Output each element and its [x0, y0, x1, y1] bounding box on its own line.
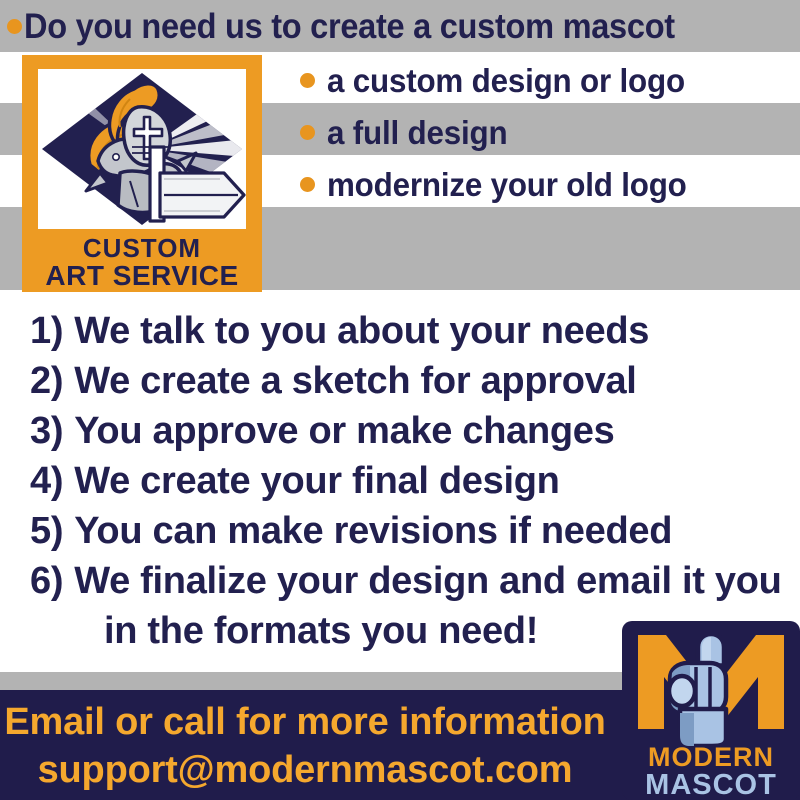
modern-mascot-logo: MODERN MASCOT [622, 621, 800, 800]
bullet-dot-icon [300, 73, 315, 88]
m-monogram-pointing-hand-icon [622, 621, 800, 746]
art-caption-line-1: CUSTOM [22, 235, 262, 262]
step-number: 4) [30, 462, 63, 500]
knight-mascot-icon [38, 69, 246, 229]
step-label: in the formats you need! [104, 612, 538, 650]
footer-line-1: Email or call for more information [0, 698, 610, 746]
step-item: 5) You can make revisions if needed [30, 506, 790, 556]
list-item-label: a full design [327, 116, 507, 149]
bullet-dot-icon [7, 19, 22, 34]
step-label: We finalize your design and email it you [74, 562, 781, 600]
step-label: You approve or make changes [74, 412, 614, 450]
process-steps-list: 1) We talk to you about your needs 2) We… [30, 306, 790, 656]
bullet-dot-icon [300, 125, 315, 140]
step-label: We create your final design [74, 462, 559, 500]
bullet-dot-icon [300, 177, 315, 192]
step-number: 1) [30, 312, 63, 350]
headline-text: Do you need us to create a custom mascot [24, 9, 675, 44]
step-item: 4) We create your final design [30, 456, 790, 506]
step-label: We talk to you about your needs [74, 312, 649, 350]
list-item: a custom design or logo [300, 54, 800, 106]
brand-wordmark: MODERN MASCOT [622, 743, 800, 799]
footer-line-2[interactable]: support@modernmascot.com [0, 746, 610, 794]
brand-word-mascot: MASCOT [622, 771, 800, 799]
art-caption-line-2: ART SERVICE [22, 262, 262, 289]
step-label: We create a sketch for approval [74, 362, 636, 400]
step-number: 5) [30, 512, 63, 550]
brand-word-modern: MODERN [622, 743, 800, 771]
step-label: You can make revisions if needed [74, 512, 672, 550]
promotional-poster: Do you need us to create a custom mascot… [0, 0, 800, 800]
list-item: a full design [300, 106, 800, 158]
service-bullet-list: a custom design or logo a full design mo… [300, 54, 800, 210]
headline: Do you need us to create a custom mascot [0, 1, 800, 51]
step-number: 3) [30, 412, 63, 450]
footer-contact-text: Email or call for more information suppo… [0, 698, 610, 794]
step-item: 1) We talk to you about your needs [30, 306, 790, 356]
custom-art-service-logo: CUSTOM ART SERVICE [22, 55, 262, 292]
step-number: 2) [30, 362, 63, 400]
list-item-label: modernize your old logo [327, 168, 687, 201]
step-number: 6) [30, 562, 63, 600]
art-service-caption: CUSTOM ART SERVICE [22, 235, 262, 289]
list-item: modernize your old logo [300, 158, 800, 210]
list-item-label: a custom design or logo [327, 64, 685, 97]
step-item: 3) You approve or make changes [30, 406, 790, 456]
step-item: 6) We finalize your design and email it … [30, 556, 790, 606]
step-item: 2) We create a sketch for approval [30, 356, 790, 406]
